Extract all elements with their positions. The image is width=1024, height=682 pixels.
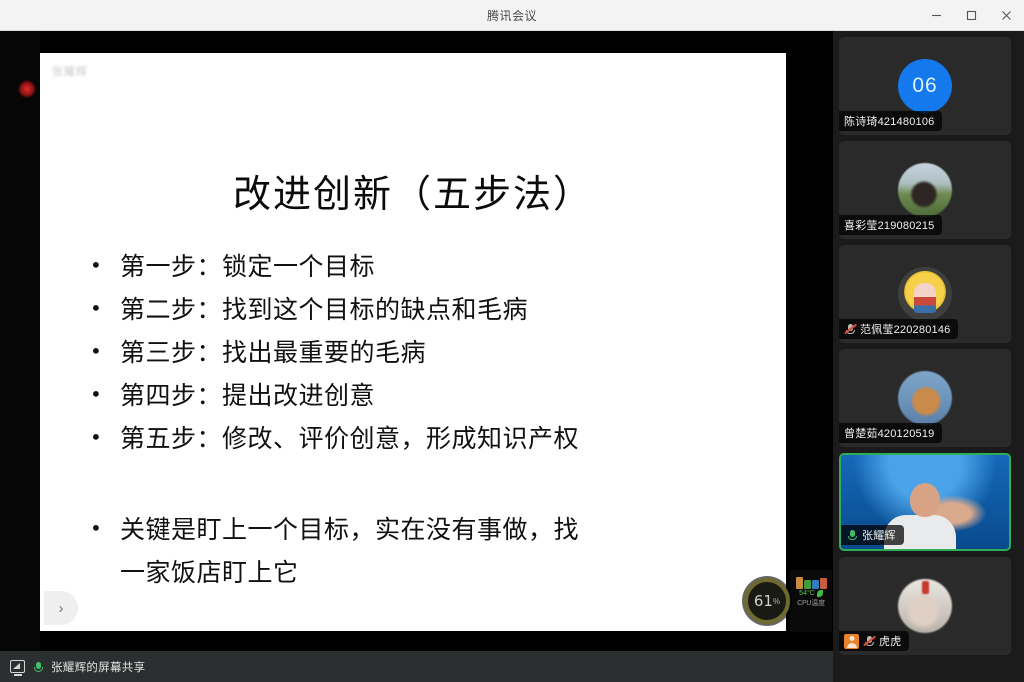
participant-namebar: 曾楚茹420120519: [839, 423, 942, 443]
participant-tile[interactable]: 范佩莹220280146: [839, 245, 1011, 343]
avatar: [898, 579, 952, 633]
cpu-temperature-label: CPU温度: [797, 598, 825, 608]
stage-letterbox-right: [786, 31, 833, 651]
performance-panel: 54°C CPU温度: [790, 570, 832, 632]
slide-title: 改进创新（五步法）: [40, 163, 786, 218]
maximize-button[interactable]: [954, 0, 989, 31]
close-icon: [1001, 10, 1012, 21]
microphone-icon: [846, 529, 858, 541]
participant-name: 喜彩莹219080215: [844, 217, 934, 233]
participant-namebar: 虎虎: [839, 631, 909, 651]
list-item: 第二步：找到这个目标的缺点和毛病: [84, 288, 774, 331]
recording-indicator-icon: [18, 80, 36, 98]
list-item: 第五步：修改、评价创意，形成知识产权: [84, 417, 774, 460]
shared-screen-stage[interactable]: 张耀辉 改进创新（五步法） 第一步：锁定一个目标 第二步：找到这个目标的缺点和毛…: [0, 31, 833, 651]
window-controls: [919, 0, 1024, 31]
cpu-usage-value: 61: [754, 592, 773, 610]
microphone-muted-icon: [844, 323, 856, 335]
perf-chip-a-icon: [796, 577, 803, 589]
list-item: 第四步：提出改进创意: [84, 374, 774, 417]
user-avatar-icon: [844, 634, 859, 649]
avatar: [898, 163, 952, 217]
participant-tile[interactable]: 曾楚茹420120519: [839, 349, 1011, 447]
performance-bars-icon: [796, 573, 827, 589]
list-item: 第一步：锁定一个目标: [84, 245, 774, 288]
participant-name: 虎虎: [879, 633, 901, 649]
list-item: 关键是盯上一个目标，实在没有事做，找 一家饭店盯上它: [84, 508, 774, 594]
list-item: 第三步：找出最重要的毛病: [84, 331, 774, 374]
slide-watermark: 张耀辉: [52, 63, 88, 79]
screen-share-label: 张耀辉的屏幕共享: [51, 659, 145, 675]
cpu-usage-unit: %: [773, 597, 780, 606]
screen-share-status-bar: 张耀辉的屏幕共享: [0, 651, 833, 682]
window-title: 腾讯会议: [487, 7, 537, 24]
avatar: 06: [898, 59, 952, 113]
bullet-spacer: [84, 460, 774, 508]
participant-name: 张耀辉: [862, 527, 896, 543]
perf-chip-d-icon: [820, 578, 827, 589]
close-button[interactable]: [989, 0, 1024, 31]
participant-rail[interactable]: 06 陈诗琦421480106 喜彩莹219080215 范佩莹22028014…: [833, 31, 1024, 682]
avatar: [898, 267, 952, 321]
participant-namebar: 陈诗琦421480106: [839, 111, 942, 131]
participant-name: 陈诗琦421480106: [844, 113, 934, 129]
avatar: [898, 371, 952, 425]
participant-tile-active-speaker[interactable]: 张耀辉: [839, 453, 1011, 551]
minimize-icon: [931, 10, 942, 21]
cpu-temperature: 54°C: [799, 590, 823, 597]
participant-tile[interactable]: 喜彩莹219080215: [839, 141, 1011, 239]
presentation-slide: 张耀辉 改进创新（五步法） 第一步：锁定一个目标 第二步：找到这个目标的缺点和毛…: [40, 53, 786, 631]
microphone-muted-icon: [863, 635, 875, 647]
participant-tile[interactable]: 06 陈诗琦421480106: [839, 37, 1011, 135]
performance-overlay-widget[interactable]: 61% 54°C CPU温度: [744, 570, 832, 632]
microphone-icon: [32, 661, 44, 673]
video-subject: [910, 483, 940, 517]
slide-bullet-list: 第一步：锁定一个目标 第二步：找到这个目标的缺点和毛病 第三步：找出最重要的毛病…: [84, 245, 774, 594]
participant-name: 曾楚茹420120519: [844, 425, 934, 441]
next-slide-button[interactable]: ›: [44, 591, 78, 625]
participant-namebar: 张耀辉: [841, 525, 904, 545]
minimize-button[interactable]: [919, 0, 954, 31]
participant-tile[interactable]: 虎虎: [839, 557, 1011, 655]
cpu-temperature-value: 54°C: [799, 590, 815, 597]
perf-chip-b-icon: [804, 580, 811, 589]
title-bar: 腾讯会议: [0, 0, 1024, 31]
participant-name: 范佩莹220280146: [860, 321, 950, 337]
tencent-meeting-window: 腾讯会议 张耀辉 改进创新（五步: [0, 0, 1024, 682]
stage-letterbox-left: [0, 31, 40, 651]
participant-namebar: 范佩莹220280146: [839, 319, 958, 339]
cpu-usage-gauge: 61%: [744, 578, 790, 624]
maximize-icon: [966, 10, 977, 21]
screen-share-icon: [10, 660, 25, 673]
leaf-icon: [817, 590, 823, 597]
participant-namebar: 喜彩莹219080215: [839, 215, 942, 235]
perf-chip-c-icon: [812, 580, 819, 589]
